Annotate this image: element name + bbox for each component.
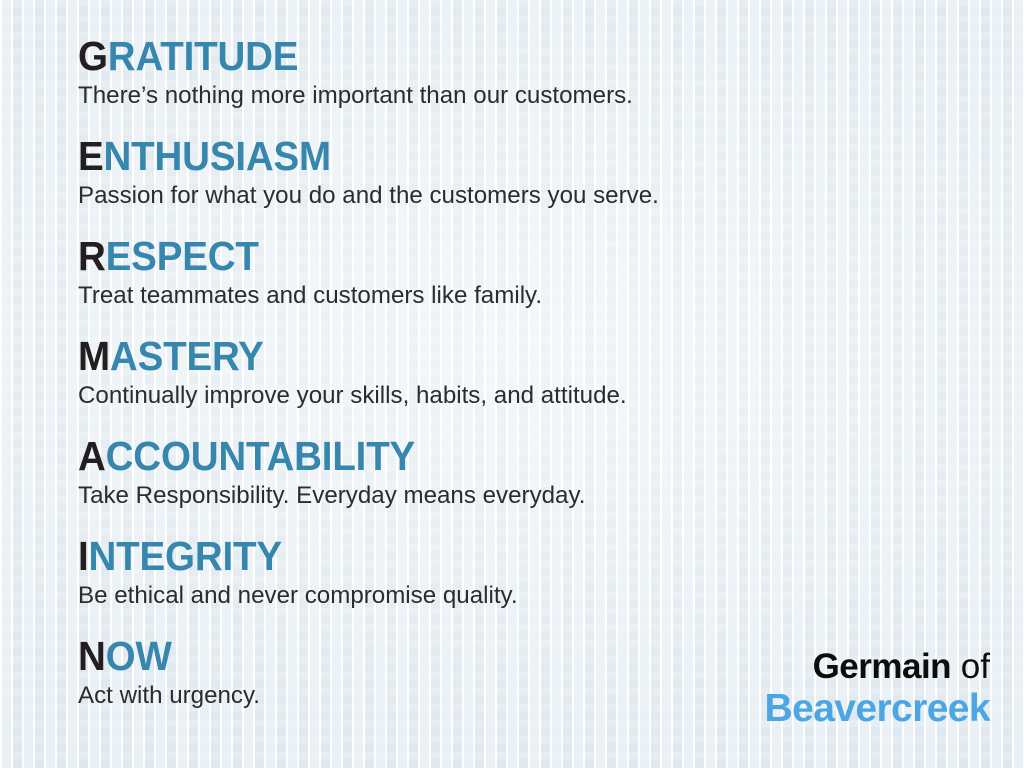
value-rest-letters: OW bbox=[106, 633, 172, 679]
value-rest-letters: ASTERY bbox=[110, 333, 264, 379]
value-description-mastery: Continually improve your skills, habits,… bbox=[78, 381, 925, 411]
value-rest-letters: NTEGRITY bbox=[89, 533, 282, 579]
value-item-enthusiasm: ENTHUSIASM Passion for what you do and t… bbox=[78, 134, 938, 234]
logo-primary-line: Germain of bbox=[765, 647, 990, 687]
value-rest-letters: ESPECT bbox=[106, 233, 259, 279]
value-lead-letter: M bbox=[78, 333, 110, 379]
value-heading-integrity: INTEGRITY bbox=[78, 534, 886, 578]
logo-connector-word: of bbox=[961, 647, 990, 686]
value-lead-letter: E bbox=[78, 133, 104, 179]
value-description-enthusiasm: Passion for what you do and the customer… bbox=[78, 181, 925, 211]
value-lead-letter: G bbox=[78, 33, 108, 79]
value-rest-letters: RATITUDE bbox=[108, 33, 298, 79]
value-description-gratitude: There’s nothing more important than our … bbox=[78, 81, 925, 111]
dealership-logo: Germain of Beavercreek bbox=[765, 647, 990, 730]
value-item-integrity: INTEGRITY Be ethical and never compromis… bbox=[78, 534, 938, 634]
value-heading-gratitude: GRATITUDE bbox=[78, 34, 886, 78]
value-item-accountability: ACCOUNTABILITY Take Responsibility. Ever… bbox=[78, 434, 938, 534]
value-lead-letter: I bbox=[78, 533, 89, 579]
value-description-integrity: Be ethical and never compromise quality. bbox=[78, 581, 925, 611]
value-lead-letter: A bbox=[78, 433, 106, 479]
value-item-respect: RESPECT Treat teammates and customers li… bbox=[78, 234, 938, 334]
value-heading-respect: RESPECT bbox=[78, 234, 886, 278]
value-description-respect: Treat teammates and customers like famil… bbox=[78, 281, 925, 311]
value-item-mastery: MASTERY Continually improve your skills,… bbox=[78, 334, 938, 434]
value-item-gratitude: GRATITUDE There’s nothing more important… bbox=[78, 34, 938, 134]
logo-location-name: Beavercreek bbox=[765, 687, 990, 730]
value-lead-letter: N bbox=[78, 633, 106, 679]
values-board: GRATITUDE There’s nothing more important… bbox=[0, 0, 1024, 768]
value-rest-letters: NTHUSIASM bbox=[104, 133, 331, 179]
board-content: GRATITUDE There’s nothing more important… bbox=[0, 0, 1024, 768]
core-values-list: GRATITUDE There’s nothing more important… bbox=[78, 34, 938, 734]
value-heading-accountability: ACCOUNTABILITY bbox=[78, 434, 886, 478]
logo-brand-name: Germain bbox=[813, 647, 952, 686]
value-description-accountability: Take Responsibility. Everyday means ever… bbox=[78, 481, 925, 511]
value-heading-mastery: MASTERY bbox=[78, 334, 886, 378]
value-heading-enthusiasm: ENTHUSIASM bbox=[78, 134, 886, 178]
value-lead-letter: R bbox=[78, 233, 106, 279]
value-rest-letters: CCOUNTABILITY bbox=[106, 433, 415, 479]
